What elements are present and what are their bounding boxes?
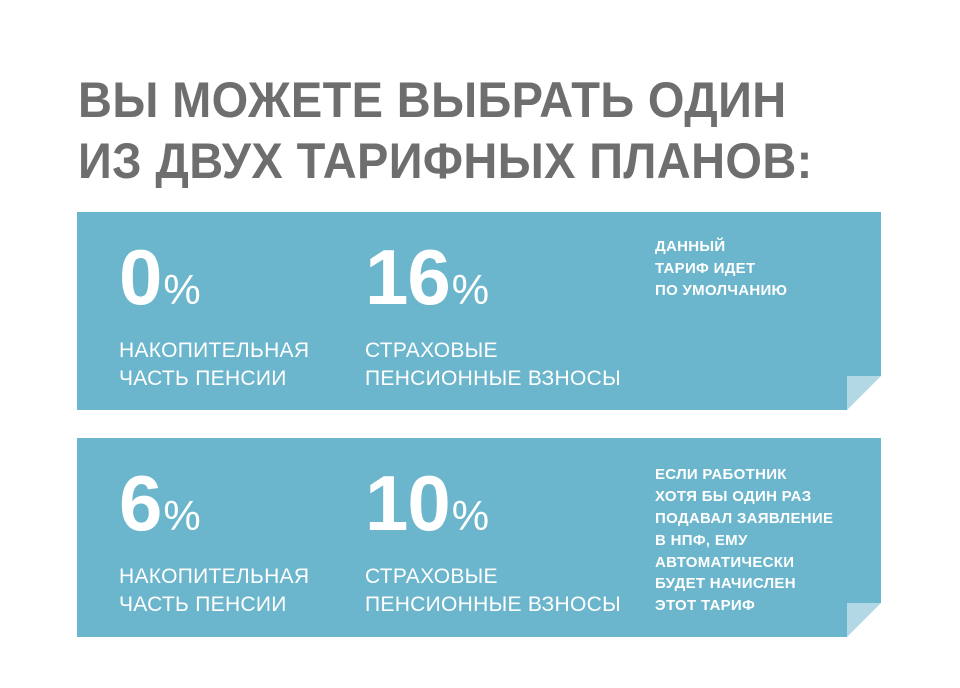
- percent-sign: %: [163, 266, 200, 313]
- stat-label: НАКОПИТЕЛЬНАЯ ЧАСТЬ ПЕНСИИ: [119, 337, 309, 392]
- page-title: ВЫ МОЖЕТЕ ВЫБРАТЬ ОДИН ИЗ ДВУХ ТАРИФНЫХ …: [78, 70, 868, 192]
- stat-insurance-contributions: 16% СТРАХОВЫЕ ПЕНСИОННЫЕ ВЗНОСЫ: [365, 238, 621, 392]
- stat-label: НАКОПИТЕЛЬНАЯ ЧАСТЬ ПЕНСИИ: [119, 563, 309, 618]
- stat-number: 0: [119, 233, 161, 321]
- stat-insurance-contributions: 10% СТРАХОВЫЕ ПЕНСИОННЫЕ ВЗНОСЫ: [365, 464, 621, 618]
- plan-card-npf: 6% НАКОПИТЕЛЬНАЯ ЧАСТЬ ПЕНСИИ 10% СТРАХО…: [77, 438, 881, 637]
- stat-accumulative-part: 6% НАКОПИТЕЛЬНАЯ ЧАСТЬ ПЕНСИИ: [119, 464, 309, 618]
- stat-accumulative-part: 0% НАКОПИТЕЛЬНАЯ ЧАСТЬ ПЕНСИИ: [119, 238, 309, 392]
- stat-label: СТРАХОВЫЕ ПЕНСИОННЫЕ ВЗНОСЫ: [365, 563, 621, 618]
- stat-number: 16: [365, 233, 450, 321]
- stat-value: 0%: [119, 238, 309, 316]
- plan-card-default: 0% НАКОПИТЕЛЬНАЯ ЧАСТЬ ПЕНСИИ 16% СТРАХО…: [77, 212, 881, 410]
- percent-sign: %: [163, 492, 200, 539]
- plan-card-content: 6% НАКОПИТЕЛЬНАЯ ЧАСТЬ ПЕНСИИ 10% СТРАХО…: [77, 438, 881, 637]
- percent-sign: %: [452, 266, 489, 313]
- stat-label: СТРАХОВЫЕ ПЕНСИОННЫЕ ВЗНОСЫ: [365, 337, 621, 392]
- stat-value: 6%: [119, 464, 309, 542]
- stat-number: 10: [365, 459, 450, 547]
- plan-note: ДАННЫЙ ТАРИФ ИДЕТ ПО УМОЛЧАНИЮ: [655, 236, 870, 302]
- plan-note: ЕСЛИ РАБОТНИК ХОТЯ БЫ ОДИН РАЗ ПОДАВАЛ З…: [655, 464, 870, 617]
- infographic-root: ВЫ МОЖЕТЕ ВЫБРАТЬ ОДИН ИЗ ДВУХ ТАРИФНЫХ …: [0, 0, 960, 688]
- stat-value: 16%: [365, 238, 621, 316]
- stat-number: 6: [119, 459, 161, 547]
- percent-sign: %: [452, 492, 489, 539]
- plan-card-content: 0% НАКОПИТЕЛЬНАЯ ЧАСТЬ ПЕНСИИ 16% СТРАХО…: [77, 212, 881, 410]
- stat-value: 10%: [365, 464, 621, 542]
